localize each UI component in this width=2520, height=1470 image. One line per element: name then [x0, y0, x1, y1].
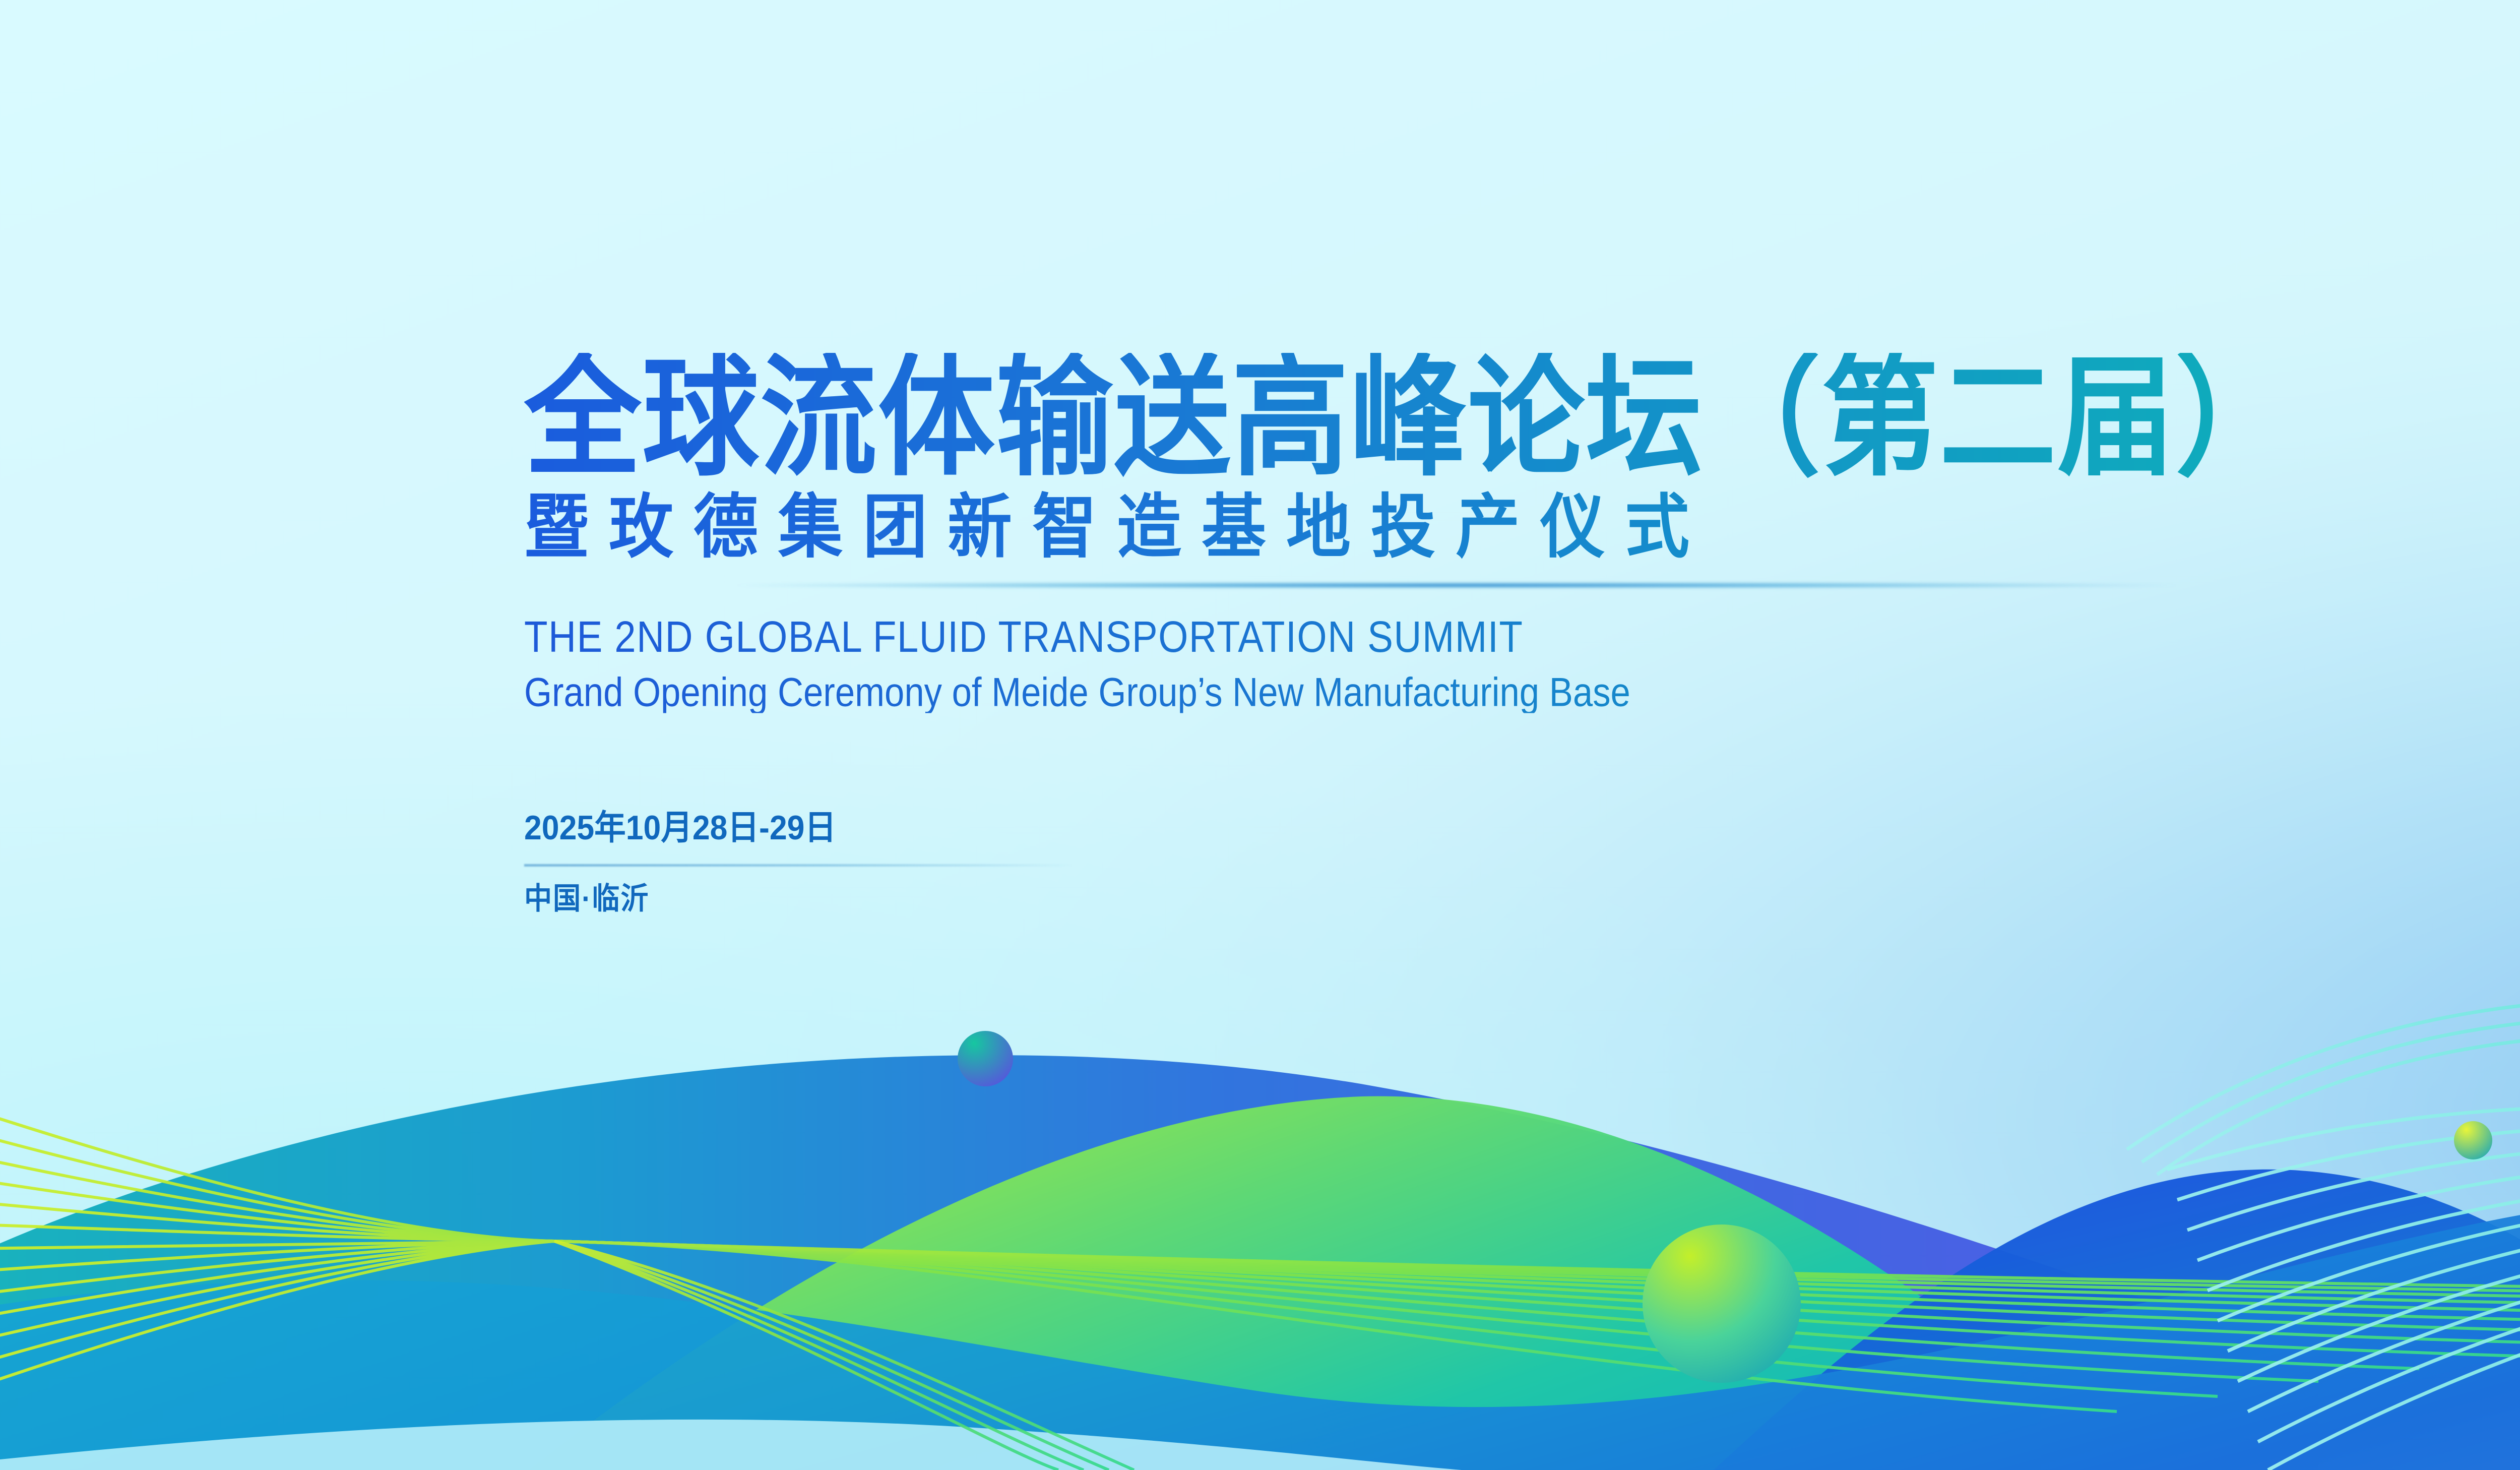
event-location: 中国·临沂 [524, 867, 2520, 914]
sphere-green-small [2454, 1121, 2492, 1159]
event-date: 2025年10月28日-29日 [524, 811, 2520, 845]
page-title-en: THE 2ND GLOBAL FLUID TRANSPORTATION SUMM… [524, 588, 2520, 659]
sphere-green-large [1643, 1224, 1801, 1383]
event-meta: 2025年10月28日-29日 中国·临沂 [524, 710, 2520, 914]
headline-block: 全球流体输送高峰论坛（第二届） 暨玫德集团新智造基地投产仪式 THE 2ND G… [524, 353, 2520, 914]
page-title: 全球流体输送高峰论坛（第二届） [524, 353, 2520, 484]
poster-canvas: 全球流体输送高峰论坛（第二届） 暨玫德集团新智造基地投产仪式 THE 2ND G… [0, 0, 2520, 1470]
sphere-blue-small [958, 1031, 1013, 1086]
page-subtitle-en: Grand Opening Ceremony of Meide Group’s … [524, 655, 2520, 713]
page-subtitle-cn: 暨玫德集团新智造基地投产仪式 [524, 470, 2520, 563]
headline-divider [524, 583, 2389, 588]
